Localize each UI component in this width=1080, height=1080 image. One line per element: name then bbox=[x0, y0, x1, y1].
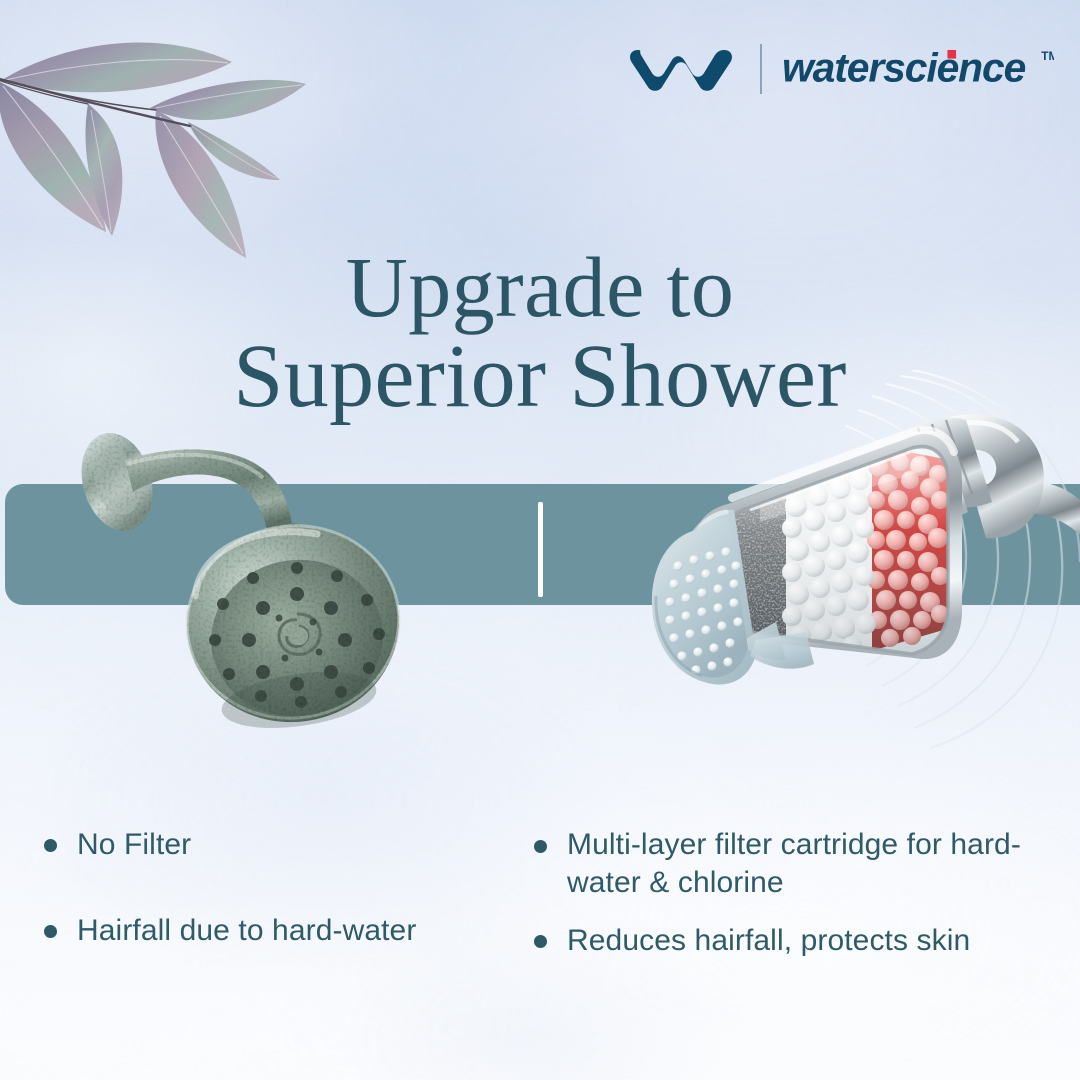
svg-text:TM: TM bbox=[1041, 50, 1054, 63]
list-item: Reduces hairfall, protects skin bbox=[534, 922, 1068, 960]
bullet-dot-icon bbox=[534, 840, 547, 853]
poster-canvas: waterscience TM Upgrade to Superior Show… bbox=[0, 0, 1080, 1080]
bullet-text: Hairfall due to hard-water bbox=[77, 912, 416, 950]
bullet-text: Multi-layer filter cartridge for hard-wa… bbox=[567, 826, 1068, 902]
headline-line-1: Upgrade to bbox=[0, 244, 1080, 332]
after-bullets-column: Multi-layer filter cartridge for hard-wa… bbox=[534, 826, 1068, 959]
after-bullet-list: Multi-layer filter cartridge for hard-wa… bbox=[534, 826, 1068, 959]
waterscience-w-logo-icon bbox=[628, 44, 746, 94]
bullet-text: Reduces hairfall, protects skin bbox=[567, 922, 970, 960]
list-item: No Filter bbox=[44, 826, 524, 864]
band-divider bbox=[538, 502, 543, 597]
before-bullets-column: No Filter Hairfall due to hard-water bbox=[44, 826, 524, 950]
corroded-showerhead-icon bbox=[55, 400, 475, 740]
filtered-showerhead-cutaway-icon bbox=[600, 370, 1080, 760]
brand-wordmark: waterscience TM bbox=[782, 43, 1054, 95]
brand-logo[interactable]: waterscience TM bbox=[628, 38, 1054, 100]
bullet-dot-icon bbox=[534, 935, 547, 948]
logo-divider bbox=[760, 44, 762, 94]
bullet-dot-icon bbox=[44, 839, 57, 852]
list-item: Hairfall due to hard-water bbox=[44, 912, 524, 950]
before-bullet-list: No Filter Hairfall due to hard-water bbox=[44, 826, 524, 950]
svg-text:waterscience: waterscience bbox=[782, 45, 1026, 91]
bullet-text: No Filter bbox=[77, 826, 191, 864]
list-item: Multi-layer filter cartridge for hard-wa… bbox=[534, 826, 1068, 902]
bullet-dot-icon bbox=[44, 925, 57, 938]
